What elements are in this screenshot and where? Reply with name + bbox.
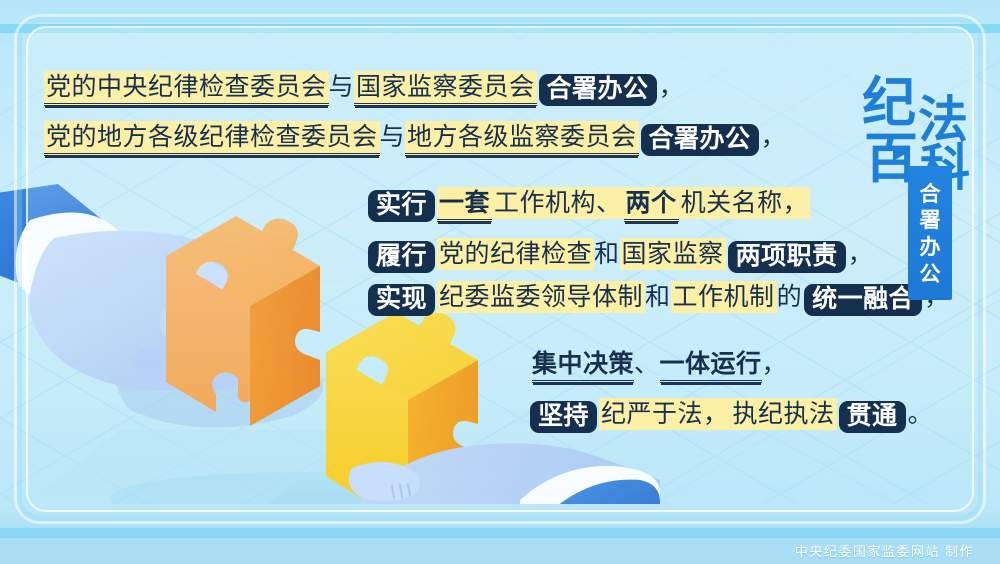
banner-char-ban: 办 <box>920 237 941 260</box>
banner-char-he: 合 <box>920 184 941 207</box>
line2-comma: ， <box>761 124 787 151</box>
line6-sep: 、 <box>634 351 660 378</box>
line4-seg2: 党的纪律检查 <box>437 238 594 270</box>
credit-line: 中央纪委国家监委网站 制作 <box>795 541 974 560</box>
line5-seg4: 工作机制 <box>671 281 777 313</box>
line5-tag2: 统一融合 <box>804 284 922 316</box>
line1-seg2: 与 <box>329 74 355 101</box>
text-line-4: 履行党的纪律检查和国家监察两项职责， <box>366 241 873 273</box>
line5-seg3: 和 <box>645 284 671 311</box>
line3-seg5: 机关名称， <box>679 187 811 219</box>
line6-comma: ， <box>762 351 788 378</box>
line2-seg1: 党的地方各级纪律检查委员会 <box>44 121 380 156</box>
line7-seg3: 执纪执法 <box>731 398 837 430</box>
background-band-bottom <box>0 528 1000 538</box>
line4-tag2: 两项职责 <box>728 241 846 273</box>
line4-seg4: 国家监察 <box>620 238 726 270</box>
line3-tag: 实行 <box>368 190 435 222</box>
text-line-1: 党的中央纪律检查委员会与国家监察委员会合署办公， <box>44 74 684 106</box>
line7-period: 。 <box>908 401 934 428</box>
text-line-6: 集中决策、一体运行， <box>532 352 787 377</box>
line1-tag: 合署办公 <box>539 74 657 106</box>
text-line-3: 实行一套工作机构、两个机关名称， <box>366 190 810 222</box>
play-triangle-icon <box>888 142 910 164</box>
line7-tag2: 贯通 <box>839 401 906 433</box>
line2-seg3: 地方各级监察委员会 <box>405 121 639 156</box>
line1-seg3: 国家监察委员会 <box>354 71 537 106</box>
line6-seg3: 一体运行 <box>660 351 762 383</box>
line3-seg3: 工作机构、 <box>492 187 624 219</box>
line5-seg2: 纪委监委领导体制 <box>437 281 645 313</box>
vertical-banner-heshu-bangong: 合 署 办 公 <box>908 166 952 300</box>
line4-comma: ， <box>848 241 874 268</box>
banner-char-gong: 公 <box>920 264 941 287</box>
line2-seg2: 与 <box>380 124 406 151</box>
line3-seg4: 两个 <box>624 187 679 222</box>
line4-seg3: 和 <box>594 241 620 268</box>
line6-seg1: 集中决策 <box>532 351 634 383</box>
line4-tag1: 履行 <box>368 241 435 273</box>
line1-comma: ， <box>659 74 685 101</box>
line7-seg2: 纪严于法， <box>599 398 731 430</box>
poster-canvas: 党的中央纪律检查委员会与国家监察委员会合署办公， 党的地方各级纪律检查委员会与地… <box>0 0 1000 564</box>
line2-tag: 合署办公 <box>641 124 759 156</box>
line5-tag1: 实现 <box>368 284 435 316</box>
banner-char-shu: 署 <box>920 210 941 233</box>
text-line-5: 实现纪委监委领导体制和工作机制的统一融合， <box>366 284 950 316</box>
line5-seg5: 的 <box>777 284 803 311</box>
line3-seg2: 一套 <box>437 187 492 222</box>
text-line-7: 坚持纪严于法，执纪执法贯通。 <box>528 401 933 433</box>
line1-seg1: 党的中央纪律检查委员会 <box>44 71 329 106</box>
text-line-2: 党的地方各级纪律检查委员会与地方各级监察委员会合署办公， <box>44 124 786 156</box>
line7-tag1: 坚持 <box>530 401 597 433</box>
